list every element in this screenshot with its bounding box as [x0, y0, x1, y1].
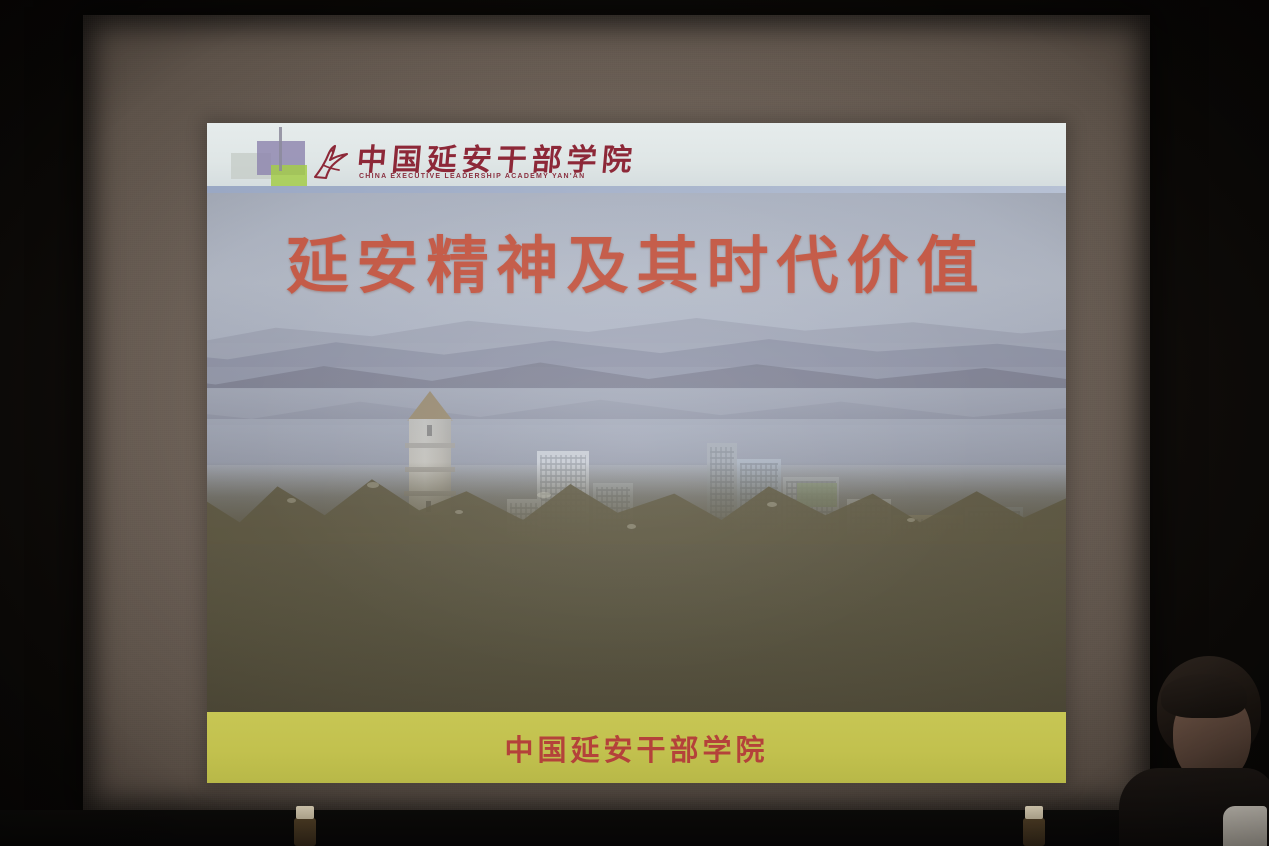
foliage-highlight [367, 482, 379, 488]
pagoda-roof [407, 391, 453, 421]
slide-header: 中国延安干部学院 CHINA EXECUTIVE LEADERSHIP ACAD… [207, 123, 1066, 193]
foliage-highlight [455, 510, 463, 514]
footer-academy-name: 中国延安干部学院 [504, 727, 768, 769]
foliage-highlight [287, 498, 296, 503]
foliage-highlight [627, 524, 636, 529]
logo-square-green-icon [271, 165, 307, 187]
water-bottle-right [1022, 806, 1046, 846]
slide-title: 延安精神及其时代价值 [207, 235, 1066, 297]
projection-screen: 中国延安干部学院 CHINA EXECUTIVE LEADERSHIP ACAD… [83, 15, 1150, 812]
foliage-highlight [907, 518, 915, 522]
stylized-deer-crane-mark-icon [309, 143, 353, 183]
lecture-room-photo: 中国延安干部学院 CHINA EXECUTIVE LEADERSHIP ACAD… [0, 0, 1269, 846]
foliage-highlight [537, 492, 551, 498]
person-fringe [1161, 674, 1247, 718]
table-edge [0, 810, 1269, 846]
bottle-body [1023, 818, 1045, 846]
presentation-slide: 中国延安干部学院 CHINA EXECUTIVE LEADERSHIP ACAD… [207, 123, 1066, 783]
logo-english-text: CHINA EXECUTIVE LEADERSHIP ACADEMY YAN'A… [359, 173, 585, 180]
person-collar [1223, 806, 1267, 846]
seated-attendee [1119, 596, 1269, 846]
foreground-tree-canopy [207, 462, 1066, 712]
bottle-cap [296, 806, 314, 819]
header-rule [207, 186, 1066, 193]
water-bottle-left [293, 806, 317, 846]
bottle-cap [1025, 806, 1043, 819]
foliage-highlight [767, 502, 777, 507]
yanan-panorama-photo: 延安精神及其时代价值 [207, 193, 1066, 712]
logo-vertical-line-icon [279, 127, 282, 171]
bottle-body [294, 818, 316, 846]
academy-logo: 中国延安干部学院 CHINA EXECUTIVE LEADERSHIP ACAD… [223, 127, 553, 191]
slide-footer: 中国延安干部学院 [207, 712, 1066, 783]
